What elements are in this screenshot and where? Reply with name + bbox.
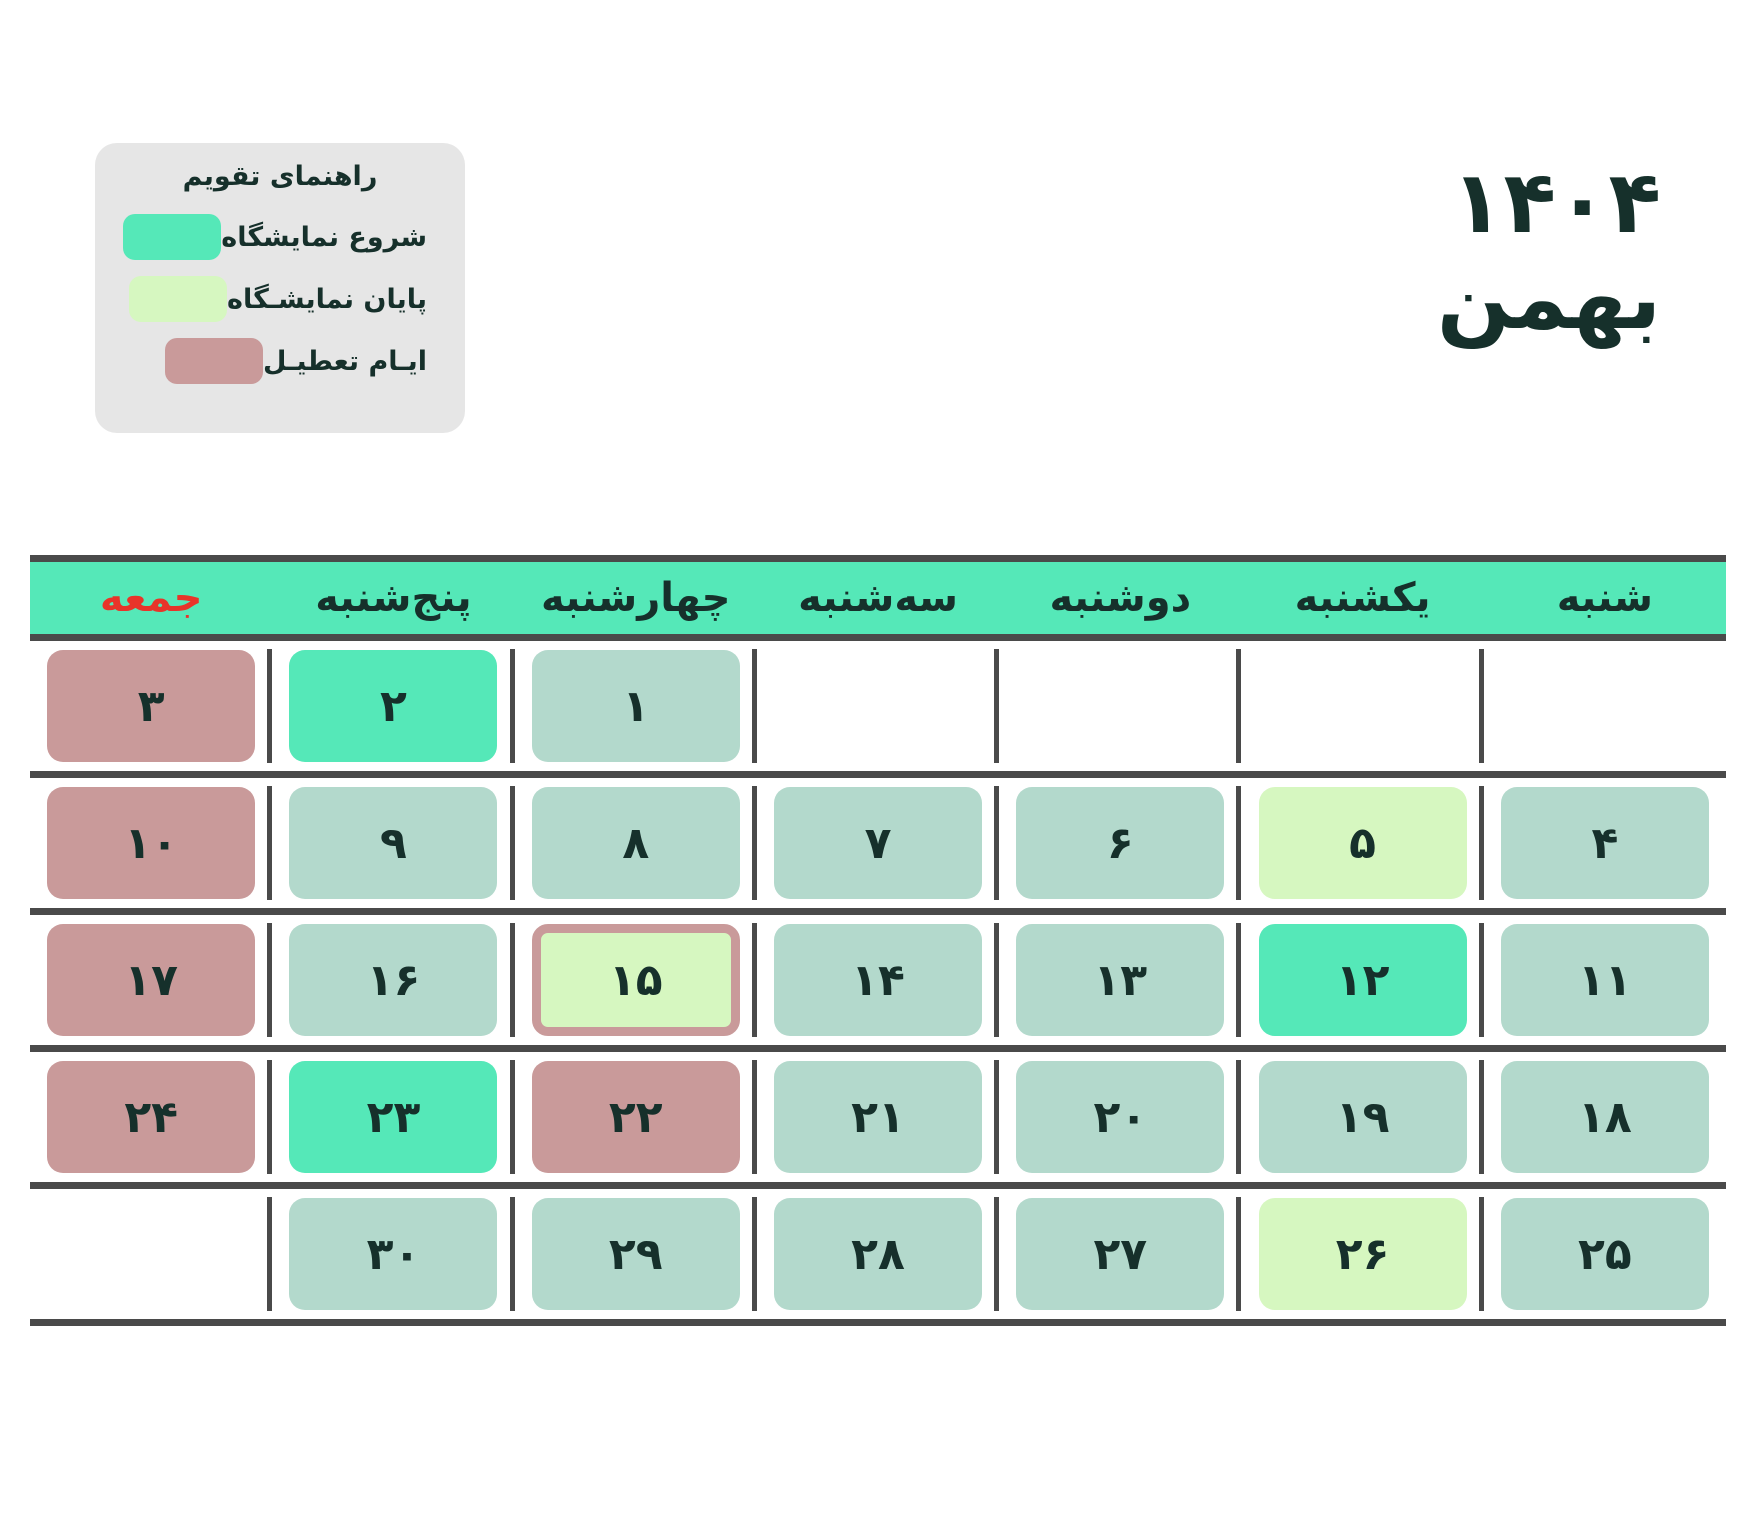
calendar-day-start[interactable]: ۲ — [289, 650, 497, 762]
calendar-day-normal[interactable]: ۲۷ — [1016, 1198, 1224, 1310]
calendar-day-cell[interactable]: ۱۰ — [30, 778, 272, 908]
divider — [30, 1319, 1726, 1326]
legend-swatch-holiday — [165, 338, 263, 384]
calendar-day-normal[interactable]: ۳۰ — [289, 1198, 497, 1310]
calendar-day-normal[interactable]: ۸ — [532, 787, 740, 899]
calendar-day-cell[interactable]: ۱۷ — [30, 915, 272, 1045]
calendar-day-end[interactable]: ۲۶ — [1259, 1198, 1467, 1310]
calendar-day-cell[interactable]: ۳۰ — [272, 1189, 514, 1319]
calendar-day-holiday[interactable]: ۱۷ — [47, 924, 255, 1036]
calendar-week-row: ۲۵۲۶۲۷۲۸۲۹۳۰ — [30, 1189, 1726, 1319]
calendar-day-normal[interactable]: ۹ — [289, 787, 497, 899]
calendar-day-cell[interactable]: ۲ — [272, 641, 514, 771]
calendar-day-cell[interactable]: ۲۰ — [999, 1052, 1241, 1182]
calendar-day-cell[interactable]: ۲۶ — [1241, 1189, 1483, 1319]
calendar-day-cell[interactable]: ۲۲ — [515, 1052, 757, 1182]
calendar-day-cell[interactable]: ۳ — [30, 641, 272, 771]
divider — [30, 1045, 1726, 1052]
calendar-day-normal[interactable]: ۲۱ — [774, 1061, 982, 1173]
weekday-header-cell: دوشنبه — [999, 575, 1241, 621]
calendar-day-cell[interactable]: ۶ — [999, 778, 1241, 908]
weekday-header-row: شنبهیکشنبهدوشنبهسه‌شنبهچهارشنبهپنج‌شنبهج… — [30, 562, 1726, 634]
calendar-week-row: ۴۵۶۷۸۹۱۰ — [30, 778, 1726, 908]
calendar-day-holiday[interactable]: ۲۲ — [532, 1061, 740, 1173]
legend-swatch-end — [129, 276, 227, 322]
calendar-day-cell — [1484, 641, 1726, 771]
calendar-day-cell[interactable]: ۸ — [515, 778, 757, 908]
calendar-day-cell[interactable]: ۲۱ — [757, 1052, 999, 1182]
calendar-week-row: ۱۸۱۹۲۰۲۱۲۲۲۳۲۴ — [30, 1052, 1726, 1182]
weekday-header-cell: جمعه — [30, 575, 272, 621]
calendar-day-normal[interactable]: ۱۴ — [774, 924, 982, 1036]
calendar-day-normal[interactable]: ۷ — [774, 787, 982, 899]
weekday-header-cell: سه‌شنبه — [757, 575, 999, 621]
legend-item-start-label: شروع نمایشگاه — [221, 222, 427, 253]
calendar-day-start[interactable]: ۱۲ — [1259, 924, 1467, 1036]
legend-title: راهنمای تقویم — [117, 161, 443, 192]
calendar-day-cell — [1241, 641, 1483, 771]
calendar-week-row: ۱۱۱۲۱۳۱۴۱۵۱۶۱۷ — [30, 915, 1726, 1045]
calendar-weeks: ۱۲۳۴۵۶۷۸۹۱۰۱۱۱۲۱۳۱۴۱۵۱۶۱۷۱۸۱۹۲۰۲۱۲۲۲۳۲۴۲… — [30, 641, 1726, 1326]
calendar-week-row: ۱۲۳ — [30, 641, 1726, 771]
calendar-day-empty — [1016, 650, 1224, 762]
calendar-day-normal[interactable]: ۲۰ — [1016, 1061, 1224, 1173]
calendar-day-normal[interactable]: ۴ — [1501, 787, 1709, 899]
calendar-day-cell[interactable]: ۱۴ — [757, 915, 999, 1045]
calendar-day-cell[interactable]: ۲۵ — [1484, 1189, 1726, 1319]
calendar-header: راهنمای تقویم شروع نمایشگاه پایان نمایشـ… — [0, 0, 1756, 470]
calendar-day-cell[interactable]: ۱ — [515, 641, 757, 771]
divider — [30, 771, 1726, 778]
divider — [30, 1182, 1726, 1189]
calendar-day-normal[interactable]: ۶ — [1016, 787, 1224, 899]
calendar-day-normal[interactable]: ۲۹ — [532, 1198, 740, 1310]
calendar-day-empty — [47, 1198, 255, 1310]
weekday-header-cell: شنبه — [1484, 575, 1726, 621]
calendar-grid: شنبهیکشنبهدوشنبهسه‌شنبهچهارشنبهپنج‌شنبهج… — [30, 555, 1726, 1326]
legend-item-end: پایان نمایشـگاه — [117, 276, 443, 322]
calendar-day-holiday[interactable]: ۳ — [47, 650, 255, 762]
calendar-day-end-holiday[interactable]: ۱۵ — [532, 924, 740, 1036]
calendar-day-cell[interactable]: ۵ — [1241, 778, 1483, 908]
calendar-day-normal[interactable]: ۱۱ — [1501, 924, 1709, 1036]
calendar-day-cell[interactable]: ۷ — [757, 778, 999, 908]
calendar-day-normal[interactable]: ۲۵ — [1501, 1198, 1709, 1310]
calendar-day-cell — [999, 641, 1241, 771]
calendar-day-empty — [1259, 650, 1467, 762]
page-title: ۱۴۰۴ بهمن — [1437, 160, 1661, 354]
calendar-day-cell[interactable]: ۲۷ — [999, 1189, 1241, 1319]
calendar-day-normal[interactable]: ۲۸ — [774, 1198, 982, 1310]
calendar-day-cell[interactable]: ۱۵ — [515, 915, 757, 1045]
calendar-day-cell[interactable]: ۲۹ — [515, 1189, 757, 1319]
calendar-day-start[interactable]: ۲۳ — [289, 1061, 497, 1173]
divider — [30, 908, 1726, 915]
weekday-header-cell: یکشنبه — [1241, 575, 1483, 621]
legend-item-holiday: ایـام تعطیـل — [117, 338, 443, 384]
calendar-day-normal[interactable]: ۱ — [532, 650, 740, 762]
calendar-day-cell[interactable]: ۱۹ — [1241, 1052, 1483, 1182]
divider — [30, 634, 1726, 641]
calendar-day-empty — [774, 650, 982, 762]
calendar-day-empty — [1501, 650, 1709, 762]
calendar-day-cell[interactable]: ۱۸ — [1484, 1052, 1726, 1182]
calendar-day-cell[interactable]: ۲۸ — [757, 1189, 999, 1319]
calendar-day-cell[interactable]: ۱۱ — [1484, 915, 1726, 1045]
weekday-header-cell: چهارشنبه — [515, 575, 757, 621]
legend-item-holiday-label: ایـام تعطیـل — [263, 346, 427, 377]
calendar-day-cell[interactable]: ۹ — [272, 778, 514, 908]
calendar-day-cell — [30, 1189, 272, 1319]
calendar-day-normal[interactable]: ۱۹ — [1259, 1061, 1467, 1173]
calendar-day-cell[interactable]: ۲۴ — [30, 1052, 272, 1182]
divider — [30, 555, 1726, 562]
legend-swatch-start — [123, 214, 221, 260]
month-label: بهمن — [1437, 246, 1661, 354]
calendar-day-normal[interactable]: ۱۳ — [1016, 924, 1224, 1036]
year-label: ۱۴۰۴ — [1437, 160, 1661, 246]
calendar-day-holiday[interactable]: ۱۰ — [47, 787, 255, 899]
calendar-day-cell[interactable]: ۱۶ — [272, 915, 514, 1045]
calendar-day-cell[interactable]: ۴ — [1484, 778, 1726, 908]
legend-item-end-label: پایان نمایشـگاه — [227, 284, 427, 315]
calendar-day-normal[interactable]: ۱۶ — [289, 924, 497, 1036]
calendar-day-normal[interactable]: ۱۸ — [1501, 1061, 1709, 1173]
calendar-day-holiday[interactable]: ۲۴ — [47, 1061, 255, 1173]
calendar-day-cell[interactable]: ۱۲ — [1241, 915, 1483, 1045]
calendar-day-end[interactable]: ۵ — [1259, 787, 1467, 899]
legend-panel: راهنمای تقویم شروع نمایشگاه پایان نمایشـ… — [95, 143, 465, 433]
calendar-day-cell — [757, 641, 999, 771]
weekday-header-cell: پنج‌شنبه — [272, 575, 514, 621]
calendar-day-cell[interactable]: ۲۳ — [272, 1052, 514, 1182]
legend-item-start: شروع نمایشگاه — [117, 214, 443, 260]
calendar-day-cell[interactable]: ۱۳ — [999, 915, 1241, 1045]
